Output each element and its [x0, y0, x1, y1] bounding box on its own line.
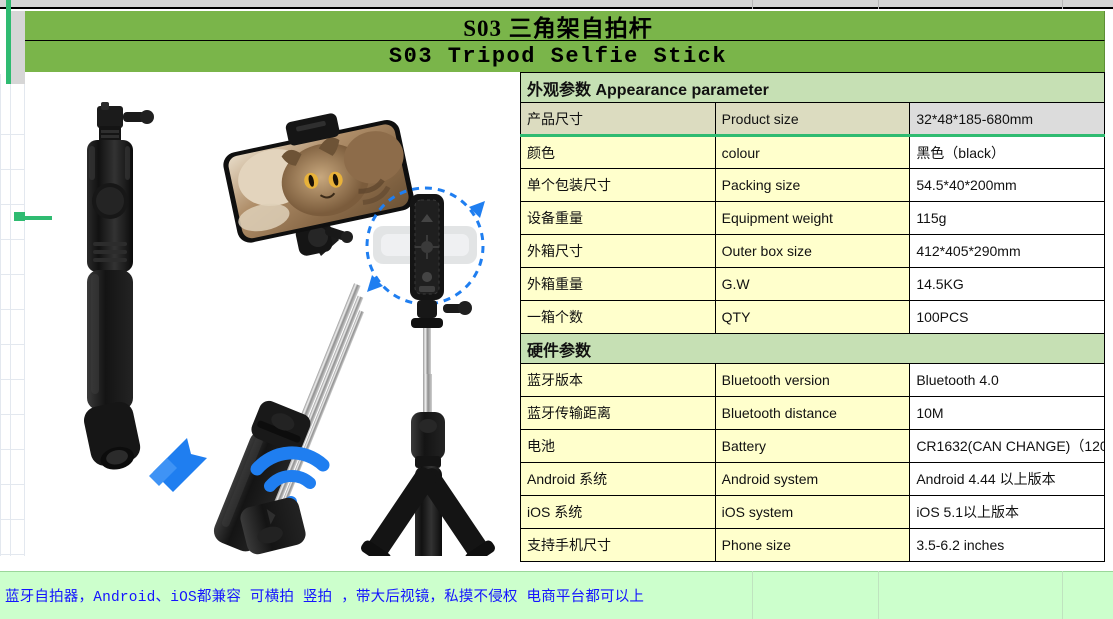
- row-value: 32*48*185-680mm: [910, 103, 1105, 136]
- title-banner-english: S03 Tripod Selfie Stick: [11, 41, 1105, 72]
- spec-table-body: 外观参数 Appearance parameter 产品尺寸 Product s…: [521, 73, 1105, 562]
- table-row[interactable]: iOS 系统 iOS system iOS 5.1以上版本: [521, 496, 1105, 529]
- row-label-cn: 外箱尺寸: [521, 235, 716, 268]
- row-label-en: Battery: [715, 430, 910, 463]
- row-label-cn: 蓝牙版本: [521, 364, 716, 397]
- row-value: 412*405*290mm: [910, 235, 1105, 268]
- footer-note-text: 蓝牙自拍器，Android、iOS都兼容 可横拍 竖拍 ，带大后视镜，私摸不侵权…: [0, 585, 644, 606]
- right-margin: [1105, 72, 1113, 571]
- table-row[interactable]: 支持手机尺寸 Phone size 3.5-6.2 inches: [521, 529, 1105, 562]
- column-seam: [1062, 0, 1063, 9]
- rotating-phone-holder: [367, 188, 485, 390]
- table-row[interactable]: 颜色 colour 黑色（black）: [521, 136, 1105, 169]
- table-row[interactable]: 一箱个数 QTY 100PCS: [521, 301, 1105, 334]
- row-value: CR1632(CAN CHANGE)（120mah): [910, 430, 1105, 463]
- row-label-cn: 蓝牙传输距离: [521, 397, 716, 430]
- phone-with-cat-photo: [217, 100, 416, 245]
- selection-edge: [25, 216, 52, 220]
- table-row[interactable]: 蓝牙版本 Bluetooth version Bluetooth 4.0: [521, 364, 1105, 397]
- row-label-en: Product size: [715, 103, 910, 136]
- section-title: 硬件参数: [521, 334, 1105, 364]
- row-header-gutter: [11, 11, 25, 84]
- row-value: 14.5KG: [910, 268, 1105, 301]
- folded-selfie-stick: [81, 102, 154, 474]
- row-label-en: Android system: [715, 463, 910, 496]
- row-label-en: Packing size: [715, 169, 910, 202]
- row-value: iOS 5.1以上版本: [910, 496, 1105, 529]
- table-row[interactable]: 单个包装尺寸 Packing size 54.5*40*200mm: [521, 169, 1105, 202]
- row-label-cn: 设备重量: [521, 202, 716, 235]
- column-seam: [878, 0, 879, 9]
- title-banner-chinese: S03 三角架自拍杆: [11, 11, 1105, 41]
- table-row[interactable]: 电池 Battery CR1632(CAN CHANGE)（120mah): [521, 430, 1105, 463]
- title-text-english: S03 Tripod Selfie Stick: [389, 44, 727, 69]
- table-row[interactable]: Android 系统 Android system Android 4.44 以…: [521, 463, 1105, 496]
- product-illustration: [25, 74, 520, 561]
- spreadsheet-canvas: S03 三角架自拍杆 S03 Tripod Selfie Stick: [0, 0, 1113, 619]
- row-label-en: iOS system: [715, 496, 910, 529]
- row-label-en: Outer box size: [715, 235, 910, 268]
- row-label-en: colour: [715, 136, 910, 169]
- row-value: 黑色（black）: [910, 136, 1105, 169]
- extend-arrow-icon: [149, 438, 207, 492]
- row-label-en: Phone size: [715, 529, 910, 562]
- row-label-cn: 一箱个数: [521, 301, 716, 334]
- tripod-legs-open: [359, 374, 497, 561]
- row-label-en: QTY: [715, 301, 910, 334]
- row-label-en: G.W: [715, 268, 910, 301]
- row-value: 54.5*40*200mm: [910, 169, 1105, 202]
- row-value: 100PCS: [910, 301, 1105, 334]
- row-label-cn: 外箱重量: [521, 268, 716, 301]
- table-row[interactable]: 外箱重量 G.W 14.5KG: [521, 268, 1105, 301]
- row-label-en: Equipment weight: [715, 202, 910, 235]
- table-row[interactable]: 蓝牙传输距离 Bluetooth distance 10M: [521, 397, 1105, 430]
- footer-note-row: 蓝牙自拍器，Android、iOS都兼容 可横拍 竖拍 ，带大后视镜，私摸不侵权…: [0, 571, 1113, 619]
- row-value: 10M: [910, 397, 1105, 430]
- section-title: 外观参数 Appearance parameter: [521, 73, 1105, 103]
- row-label-en: Bluetooth version: [715, 364, 910, 397]
- row-label-en: Bluetooth distance: [715, 397, 910, 430]
- row-value: Bluetooth 4.0: [910, 364, 1105, 397]
- section-header-appearance: 外观参数 Appearance parameter: [521, 73, 1105, 103]
- row-label-cn: iOS 系统: [521, 496, 716, 529]
- row-label-cn: 产品尺寸: [521, 103, 716, 136]
- table-row[interactable]: 产品尺寸 Product size 32*48*185-680mm: [521, 103, 1105, 136]
- row-value: 115g: [910, 202, 1105, 235]
- table-row[interactable]: 设备重量 Equipment weight 115g: [521, 202, 1105, 235]
- product-image: [25, 74, 520, 561]
- table-row[interactable]: 外箱尺寸 Outer box size 412*405*290mm: [521, 235, 1105, 268]
- section-header-hardware: 硬件参数: [521, 334, 1105, 364]
- row-label-cn: 支持手机尺寸: [521, 529, 716, 562]
- row-label-cn: 颜色: [521, 136, 716, 169]
- column-seam: [752, 0, 753, 9]
- freeze-marker-left: [6, 0, 11, 84]
- spec-table: 外观参数 Appearance parameter 产品尺寸 Product s…: [520, 72, 1105, 562]
- row-label-cn: 电池: [521, 430, 716, 463]
- row-label-cn: 单个包装尺寸: [521, 169, 716, 202]
- title-text-chinese: S03 三角架自拍杆: [463, 9, 653, 43]
- row-value: 3.5-6.2 inches: [910, 529, 1105, 562]
- selection-handle[interactable]: [14, 212, 25, 221]
- row-value: Android 4.44 以上版本: [910, 463, 1105, 496]
- row-label-cn: Android 系统: [521, 463, 716, 496]
